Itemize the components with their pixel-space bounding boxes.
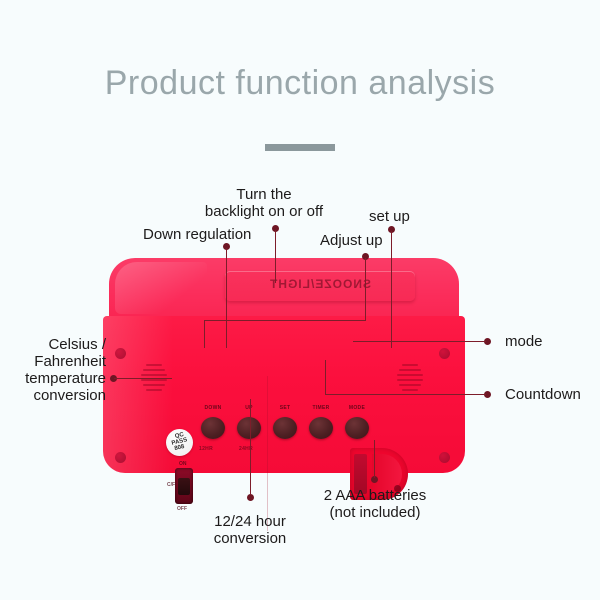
button-set[interactable] — [273, 417, 297, 439]
callout-dot-hour-conversion — [247, 494, 254, 501]
callout-line-backlight — [275, 230, 276, 283]
callout-label-set-up: set up — [369, 208, 410, 225]
button-label-down: DOWN — [196, 405, 230, 411]
callout-label-batteries: 2 AAA batteries (not included) — [308, 487, 442, 521]
callout-line-mode — [353, 341, 486, 342]
button-label-timer: TIMER — [304, 405, 338, 411]
callout-label-adjust-up: Adjust up — [320, 232, 383, 249]
button-label-set: SET — [268, 405, 302, 411]
screw-bottom-right — [439, 452, 450, 463]
button-label-up: UP — [232, 405, 266, 411]
button-label-mode: MODE — [340, 405, 374, 411]
snooze-light-bar[interactable]: SNOOZE/LIGHT — [225, 271, 415, 301]
callout-line-hour-conversion — [250, 399, 251, 495]
callout-line-batteries — [374, 440, 375, 478]
button-mode[interactable] — [345, 417, 369, 439]
screw-top-left — [115, 348, 126, 359]
front-face-highlight — [103, 316, 173, 473]
page-title: Product function analysis — [0, 64, 600, 103]
callout-line-adjust-up-v1 — [365, 258, 366, 320]
button-row: DOWN UP SET TIMER MODE — [201, 405, 367, 441]
battery-door-seam — [267, 376, 268, 531]
callout-label-down-regulation: Down regulation — [143, 226, 251, 243]
button-down[interactable] — [201, 417, 225, 439]
callout-label-mode: mode — [505, 333, 543, 350]
callout-label-backlight: Turn the backlight on or off — [194, 186, 334, 220]
callout-label-temperature-conversion: Celsius / Fahrenheit temperature convers… — [10, 336, 106, 404]
speaker-grille-right — [397, 364, 423, 394]
alarm-clock-device: SNOOZE/LIGHT DOWN UP SET TIMER MODE — [103, 258, 465, 473]
qc-pass-sticker: QC PASS 808 — [166, 429, 193, 456]
button-timer[interactable] — [309, 417, 333, 439]
snooze-light-embossed-label: SNOOZE/LIGHT — [225, 277, 415, 291]
callout-line-temperature-conversion — [114, 378, 172, 379]
product-diagram: Product function analysis SNOOZE/LIGHT D… — [0, 0, 600, 600]
screw-top-right — [439, 348, 450, 359]
celsius-fahrenheit-switch[interactable] — [175, 468, 193, 504]
title-divider — [265, 144, 335, 151]
screw-bottom-left — [115, 452, 126, 463]
callout-line-countdown-h — [325, 394, 486, 395]
switch-label-off: OFF — [177, 506, 187, 512]
callout-line-adjust-up-h — [204, 320, 366, 321]
callout-line-set-up — [391, 231, 392, 348]
switch-label-cf: C/F — [167, 482, 175, 488]
speaker-grille-left — [141, 364, 167, 394]
silkscreen-12hr: 12HR — [199, 446, 213, 452]
switch-knob[interactable] — [178, 478, 190, 495]
callout-line-adjust-up-v2 — [204, 320, 205, 348]
callout-line-down-regulation — [226, 248, 227, 348]
switch-label-on: ON — [179, 461, 187, 467]
callout-label-hour-conversion: 12/24 hour conversion — [192, 513, 308, 547]
button-up[interactable] — [237, 417, 261, 439]
callout-line-countdown-v — [325, 360, 326, 395]
callout-label-countdown: Countdown — [505, 386, 581, 403]
